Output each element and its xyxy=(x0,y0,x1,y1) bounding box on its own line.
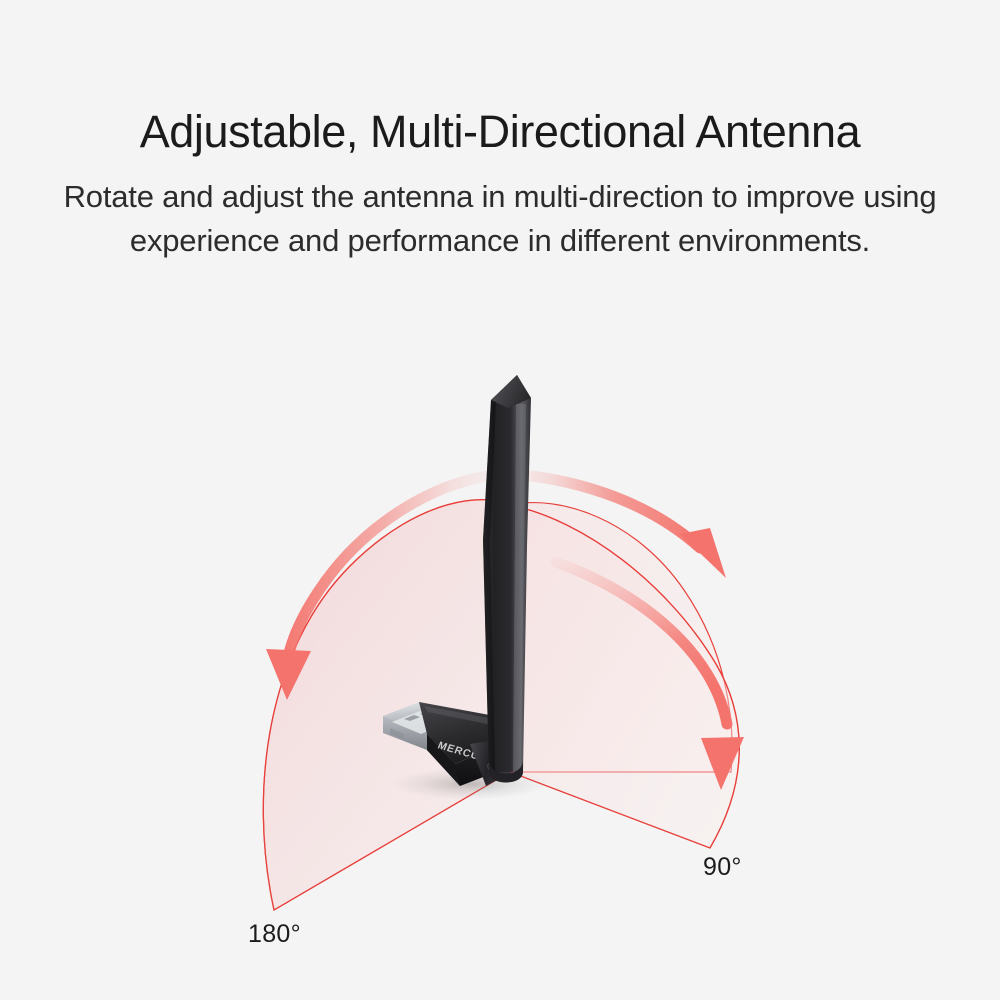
angle-label-180: 180° xyxy=(248,922,301,947)
product-feature-card: Adjustable, Multi-Directional Antenna Ro… xyxy=(0,0,1000,1000)
text-block: Adjustable, Multi-Directional Antenna Ro… xyxy=(0,0,1000,263)
page-subtitle: Rotate and adjust the antenna in multi-d… xyxy=(0,159,1000,263)
horizontal-rotation-sector xyxy=(263,500,510,910)
angle-label-90: 90° xyxy=(703,855,742,880)
page-title: Adjustable, Multi-Directional Antenna xyxy=(0,0,1000,159)
